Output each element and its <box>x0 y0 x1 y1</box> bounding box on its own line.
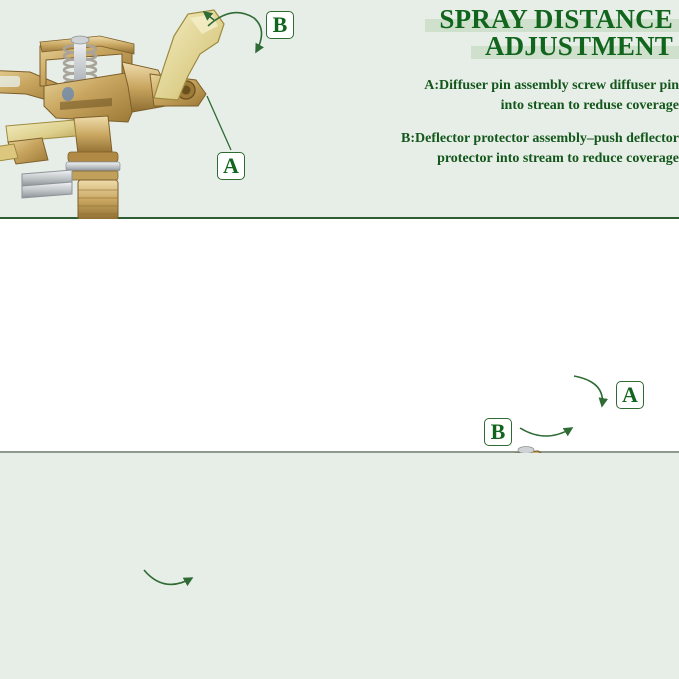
sprinkler-instruction-infographic: SPRAY DISTANCE ADJUSTMENT A:Diffuser pin… <box>0 0 679 679</box>
instruction-a-spray-distance: A:Diffuser pin assembly screw diffuser p… <box>398 76 679 116</box>
title-line: ADJUSTMENT <box>479 33 679 60</box>
panel-title-spray-distance: SPRAY DISTANCE ADJUSTMENT <box>398 6 679 60</box>
callout-badge-b-part-circle: B <box>484 418 512 446</box>
callout-badge-b-spray-distance: B <box>266 11 294 39</box>
callout-badge-a-part-circle: A <box>616 381 644 409</box>
sprinkler-image-spray-distance <box>0 2 242 219</box>
instruction-b-spray-distance: B:Deflector protector assembly–push defl… <box>398 129 679 169</box>
panel-part-circle: PART CIRCLE ADJUSTMENT A:Push the trip p… <box>0 219 679 453</box>
panel-spray-distance: SPRAY DISTANCE ADJUSTMENT A:Diffuser pin… <box>0 0 679 219</box>
title-line: SPRAY DISTANCE <box>433 6 679 33</box>
panel-all-circle: ALL CIRCLE COVERAGE A:Push the trip pin … <box>0 453 679 679</box>
callout-badge-a-spray-distance: A <box>217 152 245 180</box>
text-block-spray-distance: SPRAY DISTANCE ADJUSTMENT A:Diffuser pin… <box>398 6 679 169</box>
sprinkler-image-part-circle <box>396 445 646 453</box>
